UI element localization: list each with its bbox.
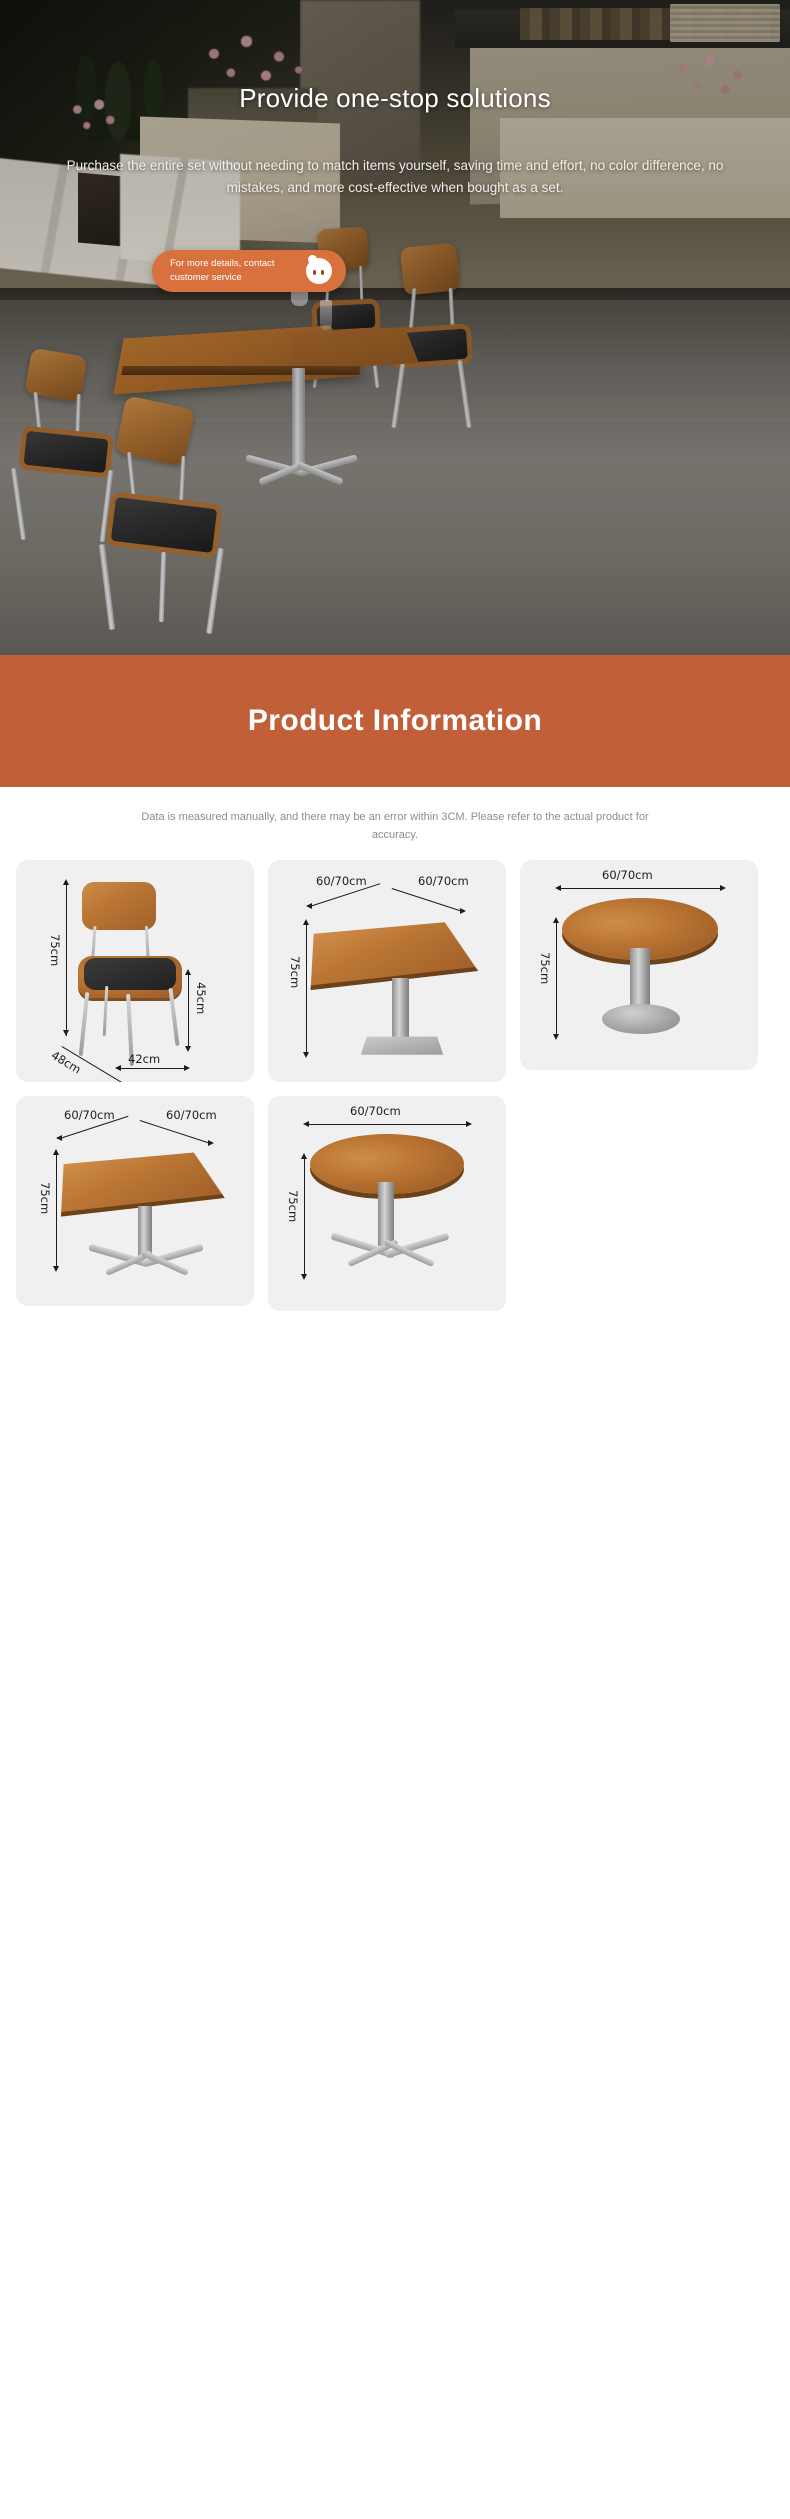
chair-height-arrow-top (63, 879, 69, 885)
square-table-depth-arrow-right (460, 908, 466, 914)
cross-table-height-dimension-line (56, 1154, 57, 1270)
hero-banner: Provide one-stop solutions Purchase the … (0, 0, 790, 655)
chair-backrest (82, 882, 156, 930)
product-detail-page: Provide one-stop solutions Purchase the … (0, 0, 790, 1351)
cross-table-width-label: 60/70cm (64, 1108, 115, 1122)
cross-table-depth-label: 60/70cm (166, 1108, 217, 1122)
cross-table-depth-dimension-line (140, 1120, 209, 1143)
chair-leg-rear-right (168, 988, 179, 1046)
spec-card-round-table-disc: 60/70cm 75cm (520, 860, 758, 1070)
chair-seat-height-label: 45cm (194, 982, 208, 1014)
square-table-height-arrow-top (303, 919, 309, 925)
round-table-height-arrow-top (553, 917, 559, 923)
square-table-height-arrow-bottom (303, 1052, 309, 1058)
round-table-base-disc (602, 1004, 680, 1034)
hero-title: Provide one-stop solutions (0, 82, 790, 115)
chair-height-dimension-line (66, 884, 67, 1036)
square-table-depth-dimension-line (392, 888, 461, 911)
spec-card-dining-chair: 75cm 45cm 48cm 42cm (16, 860, 254, 1082)
xround-table-diameter-dimension-line (308, 1124, 468, 1125)
chair-leg-front-left (79, 992, 89, 1056)
cross-table-height-arrow-bottom (53, 1266, 59, 1272)
chair-width-arrow-left (115, 1065, 121, 1071)
cross-table-width-arrow-left (56, 1135, 62, 1141)
round-table-height-label: 75cm (538, 952, 552, 984)
chair-seat-cushion (84, 958, 176, 990)
xround-table-height-arrow-top (301, 1153, 307, 1159)
round-table-diameter-arrow-left (555, 885, 561, 891)
square-table-top (311, 922, 476, 985)
spec-card-square-table-pedestal: 60/70cm 60/70cm 75cm (268, 860, 506, 1082)
square-table-width-label: 60/70cm (316, 874, 367, 888)
chair-seat-height-arrow-top (185, 969, 191, 975)
xround-table-column (378, 1182, 394, 1246)
round-table-height-dimension-line (556, 922, 557, 1038)
xround-table-diameter-arrow-right (466, 1121, 472, 1127)
product-information-band: Product Information (0, 655, 790, 787)
square-table-height-dimension-line (306, 924, 307, 1056)
spec-card-square-table-cross: 60/70cm 60/70cm 75cm (16, 1096, 254, 1306)
chair-height-label: 75cm (48, 934, 62, 966)
xround-table-height-arrow-bottom (301, 1274, 307, 1280)
round-table-height-arrow-bottom (553, 1034, 559, 1040)
square-table-height-label: 75cm (288, 956, 302, 988)
xround-table-height-dimension-line (304, 1158, 305, 1278)
chair-width-label: 42cm (128, 1052, 160, 1066)
chair-seat-height-arrow-bottom (185, 1046, 191, 1052)
section-title: Product Information (248, 704, 542, 738)
contact-customer-service-label: For more details, contact customer servi… (152, 257, 306, 285)
xround-table-diameter-label: 60/70cm (350, 1104, 401, 1118)
spec-card-round-table-cross: 60/70cm 75cm (268, 1096, 506, 1311)
specification-grid: 75cm 45cm 48cm 42cm 60/70cm (0, 860, 790, 1351)
measurement-disclaimer: Data is measured manually, and there may… (0, 787, 790, 860)
cross-table-height-arrow-top (53, 1149, 59, 1155)
round-table-diameter-arrow-right (720, 885, 726, 891)
cross-table-top (61, 1153, 222, 1212)
chair-height-arrow-bottom (63, 1030, 69, 1036)
square-table-base-plate (361, 1037, 444, 1055)
chair-seat-height-dimension-line (188, 974, 189, 1050)
round-table-diameter-dimension-line (560, 888, 722, 889)
contact-customer-service-button[interactable]: For more details, contact customer servi… (152, 250, 346, 292)
xround-table-diameter-arrow-left (303, 1121, 309, 1127)
square-table-column (392, 978, 409, 1040)
cross-table-height-label: 75cm (38, 1182, 52, 1214)
chair-width-arrow-right (184, 1065, 190, 1071)
xround-table-height-label: 75cm (286, 1190, 300, 1222)
cross-table-depth-arrow-right (208, 1140, 214, 1146)
round-table-diameter-label: 60/70cm (602, 868, 653, 882)
customer-service-avatar-icon (306, 258, 332, 284)
chair-width-dimension-line (120, 1068, 186, 1069)
square-table-depth-label: 60/70cm (418, 874, 469, 888)
hero-subtitle: Purchase the entire set without needing … (0, 155, 790, 199)
square-table-width-arrow-left (306, 903, 312, 909)
